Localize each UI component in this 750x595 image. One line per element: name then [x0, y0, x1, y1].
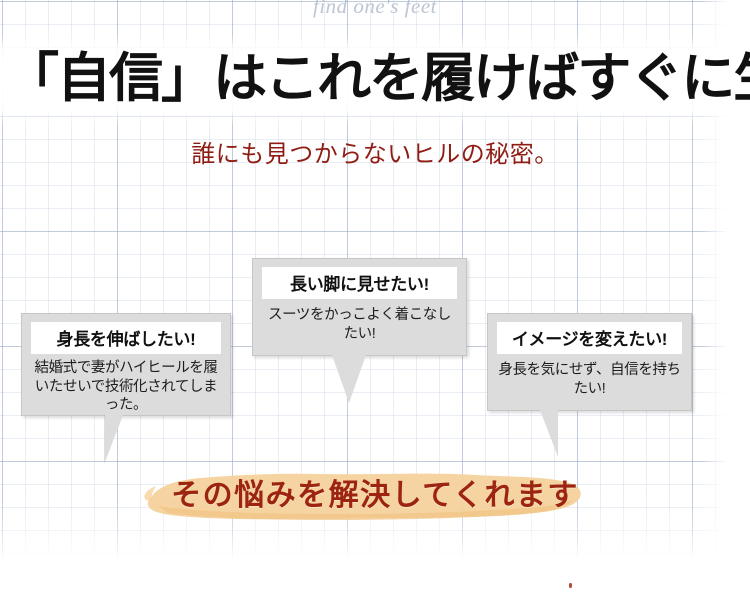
- page-subtitle: 誰にも見つからないヒルの秘密。: [0, 134, 750, 169]
- page-title: 「自信」はこれを履けばすぐに生まれる！: [5, 52, 750, 105]
- watermark-text: find one's feet: [0, 0, 750, 19]
- speech-bubble-height-title: 身長を伸ばしたい!: [31, 322, 221, 354]
- speech-bubble-height: 身長を伸ばしたい! 結婚式で妻がハイヒールを履いたせいで技術化されてしまった。: [21, 313, 231, 416]
- stray-mark: [569, 583, 572, 588]
- speech-bubble-legs-title: 長い脚に見せたい!: [262, 267, 457, 299]
- speech-bubble-image-body: 身長を気にせず、自信を持ちたい!: [488, 361, 691, 398]
- closing-message: その悩みを解決してくれます: [0, 470, 750, 514]
- speech-bubble-legs: 長い脚に見せたい! スーツをかっこよく着こなしたい!: [252, 258, 467, 356]
- speech-bubble-height-body: 結婚式で妻がハイヒールを履いたせいで技術化されてしまった。: [22, 359, 230, 415]
- speech-bubble-legs-tail: [332, 355, 366, 403]
- speech-bubble-image: イメージを変えたい! 身長を気にせず、自信を持ちたい!: [487, 313, 692, 411]
- speech-bubble-image-tail: [540, 410, 558, 457]
- speech-bubble-legs-body: スーツをかっこよく着こなしたい!: [253, 306, 466, 343]
- promo-banner: find one's feet 「自信」はこれを履けばすぐに生まれる！ 誰にも見…: [0, 0, 750, 595]
- speech-bubble-height-tail: [105, 415, 123, 462]
- speech-bubble-image-title: イメージを変えたい!: [497, 322, 682, 354]
